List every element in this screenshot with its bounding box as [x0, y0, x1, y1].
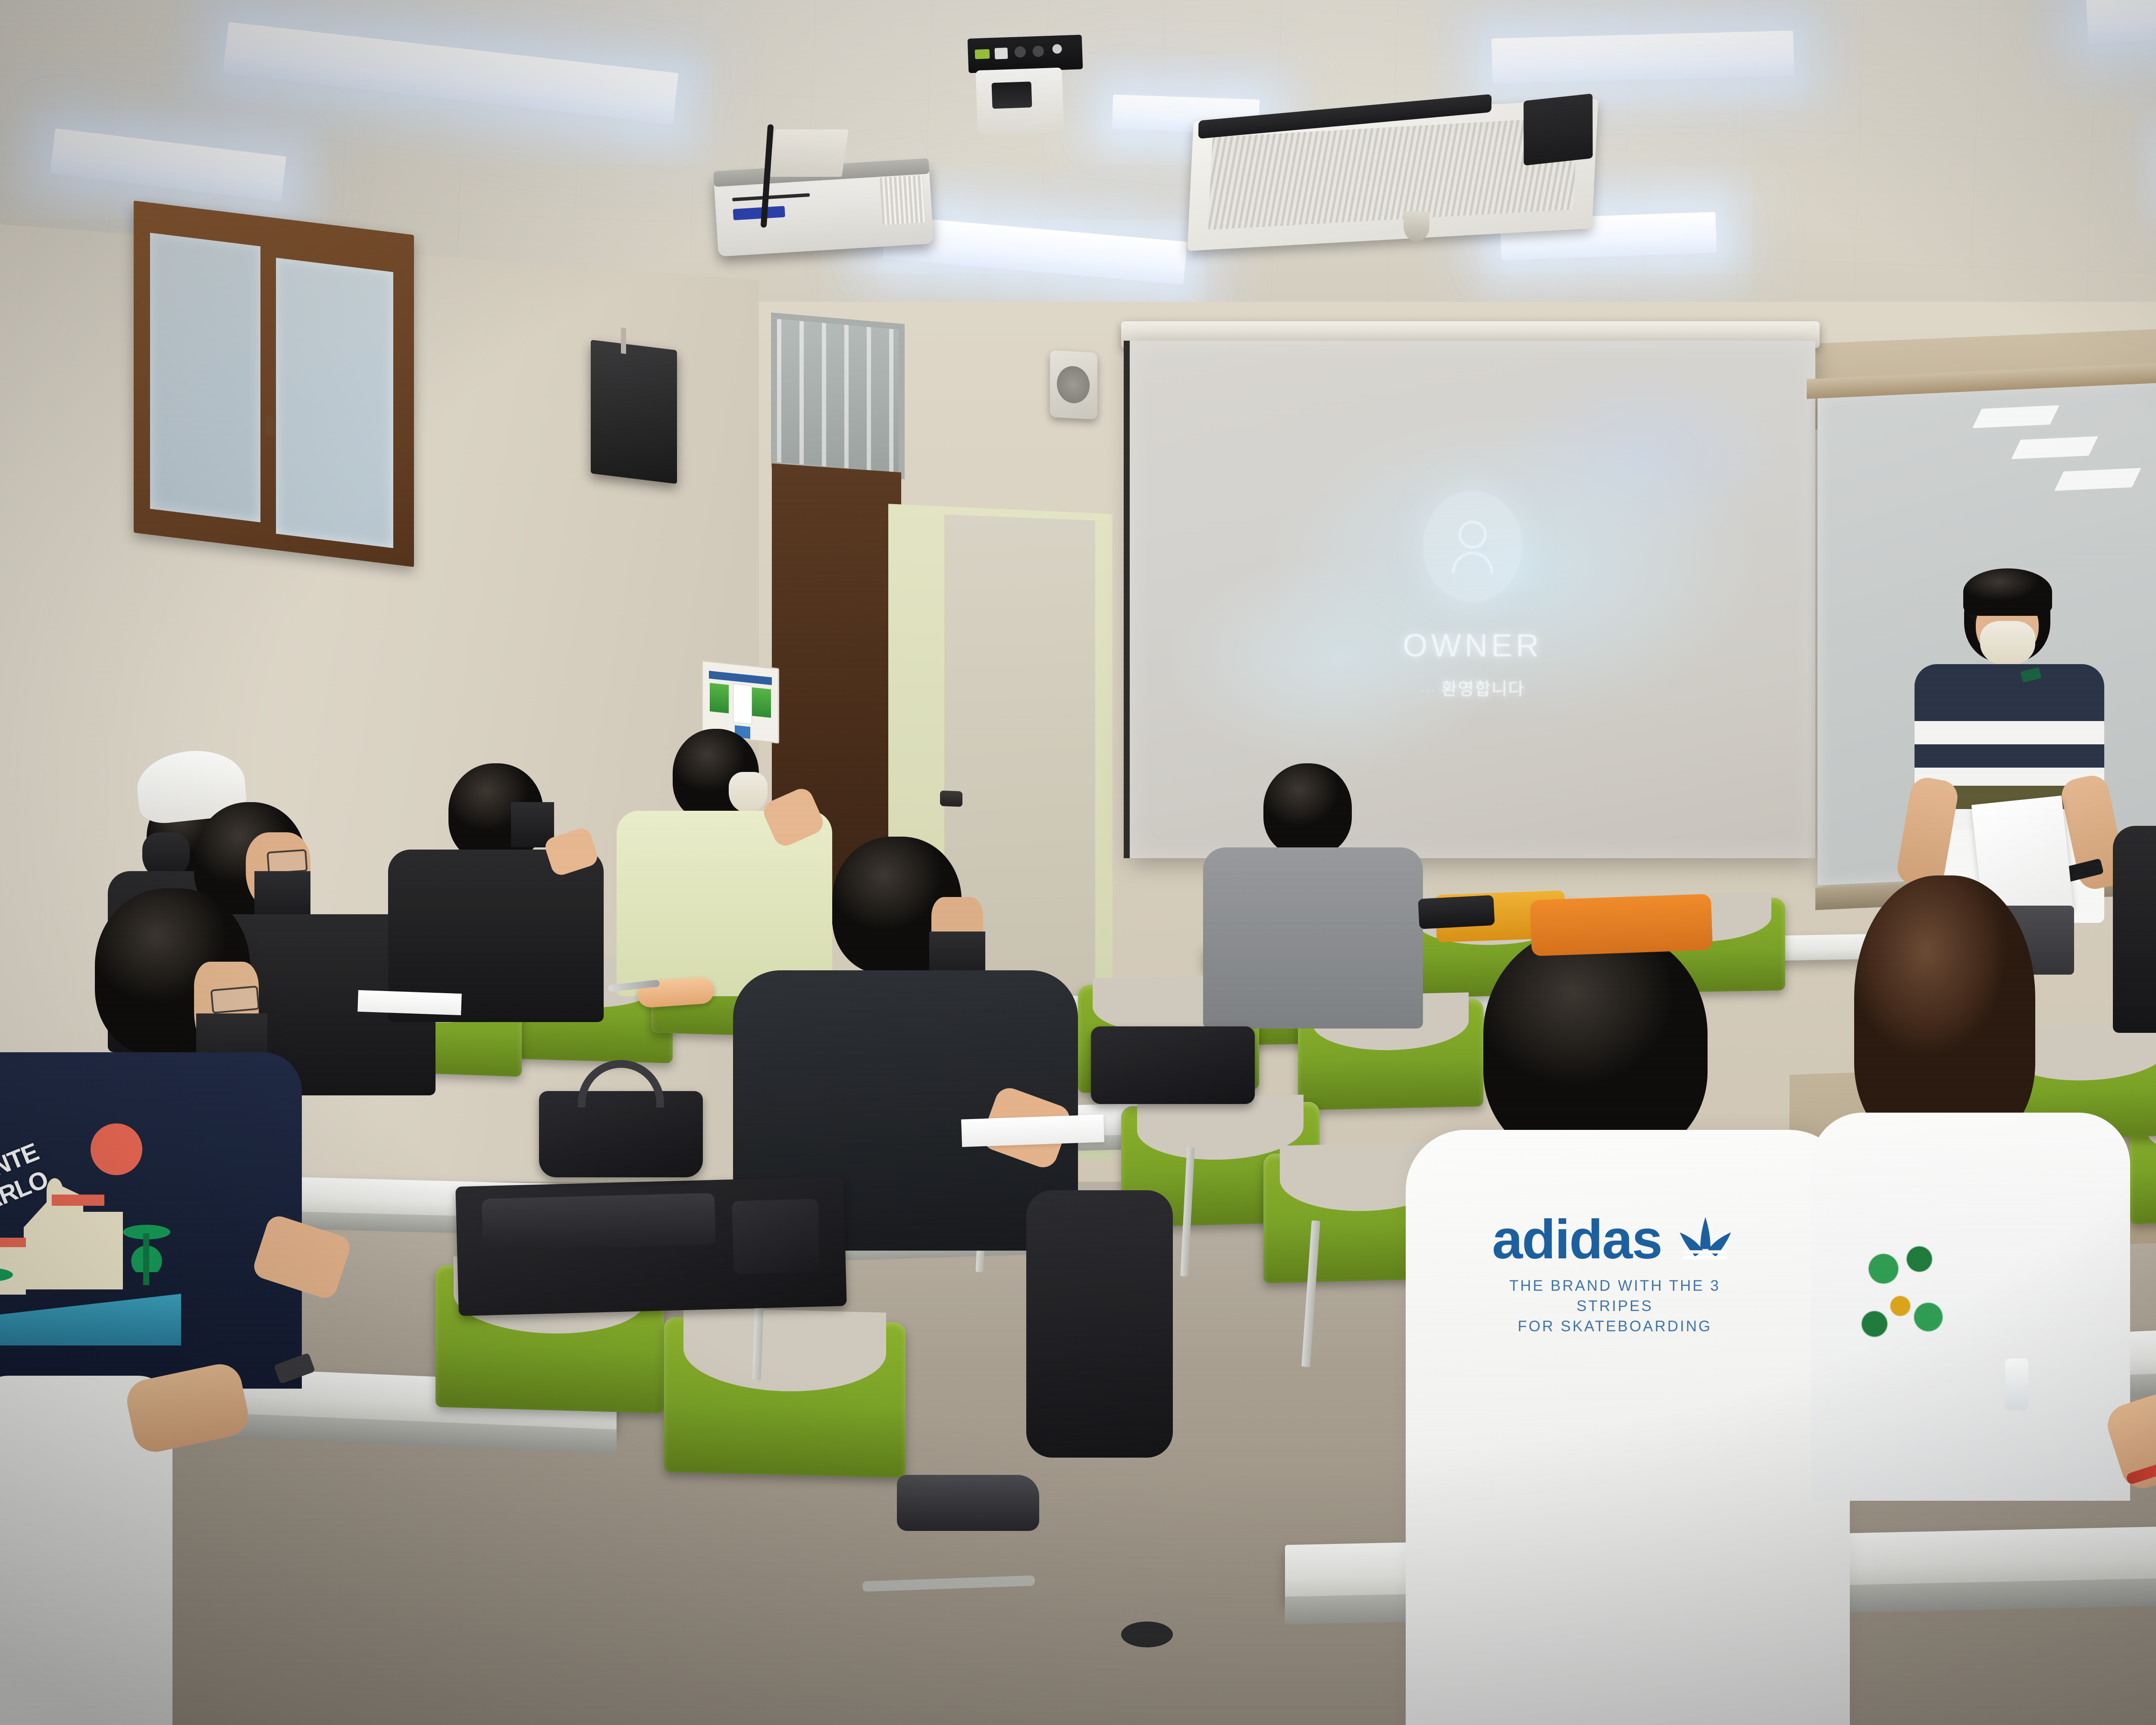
classroom-photo: OWNER ···환영합니다 대구대학교 UNIVERSITY	[0, 0, 2156, 1725]
ceiling-light	[1492, 31, 1795, 84]
face-mask	[729, 772, 768, 813]
orange-jacket[interactable]	[1530, 894, 1713, 957]
projector-mount	[768, 129, 848, 177]
wall-monitor[interactable]	[591, 340, 677, 484]
door-handle[interactable]	[940, 790, 962, 807]
ceiling-projector-rear	[968, 34, 1083, 73]
black-bag-small[interactable]	[1091, 1026, 1255, 1104]
student-head	[1263, 763, 1352, 856]
user-avatar-glyph	[1447, 518, 1498, 574]
window-latch[interactable]	[265, 415, 274, 436]
adidas-tagline-line2: FOR SKATEBOARDING	[1481, 1316, 1749, 1336]
student-legs	[1026, 1190, 1173, 1458]
eyeglasses	[266, 849, 307, 874]
user-avatar-icon[interactable]	[1423, 491, 1522, 602]
tee-roof-graphic	[52, 1195, 104, 1206]
student-body	[1811, 1113, 2130, 1501]
shoe	[897, 1475, 1039, 1531]
projection-screen[interactable]: OWNER ···환영합니다	[1130, 341, 1815, 858]
loading-spinner-icon: ···	[1420, 683, 1436, 697]
window-pane	[150, 233, 260, 522]
student-head	[1483, 927, 1708, 1160]
welcome-korean: 환영합니다	[1441, 680, 1525, 699]
login-screen-content: OWNER ···환영합니다	[1317, 491, 1628, 700]
window-frame	[134, 201, 414, 567]
blouse-tropical-print	[1850, 1220, 1962, 1358]
chair[interactable]	[664, 1317, 906, 1478]
black-strap	[1418, 895, 1495, 929]
student-body: adidas THE BRAND WITH THE 3 STRIPES FOR …	[1406, 1130, 1850, 1725]
transom-window	[771, 312, 905, 479]
student-body: MONTE CARLO	[0, 1052, 302, 1389]
login-username: OWNER	[1317, 627, 1628, 664]
student-body	[2113, 826, 2156, 1033]
student-body	[1203, 847, 1423, 1029]
presenter-collar	[1994, 666, 2024, 691]
adidas-wordmark: adidas	[1492, 1208, 1662, 1271]
paper-sheet[interactable]	[357, 990, 462, 1015]
student-hair	[1854, 875, 2035, 1143]
presenter-hair	[1963, 568, 2052, 616]
sprinkler-head	[1404, 211, 1429, 241]
monitor-cable	[621, 327, 626, 354]
tee-water-graphic	[0, 1294, 181, 1345]
wall-speaker-left	[1050, 350, 1097, 420]
black-backpack[interactable]	[455, 1176, 847, 1316]
chair-caster	[1121, 1621, 1173, 1647]
tee-palm-trunk	[143, 1233, 149, 1285]
ceiling-camera-body	[975, 68, 1064, 135]
eyeglasses	[210, 985, 260, 1013]
adidas-tagline-line1: THE BRAND WITH THE 3 STRIPES	[1481, 1276, 1749, 1317]
login-welcome-text: ···환영합니다	[1317, 675, 1628, 700]
ac-cassette-unit	[1187, 98, 1598, 251]
presenter-mask	[1980, 621, 2035, 666]
ceiling-light	[2086, 0, 2156, 44]
paper-sheet[interactable]	[961, 1114, 1104, 1147]
black-handbag[interactable]	[539, 1091, 703, 1177]
water-bottle[interactable]	[2005, 1358, 2028, 1410]
window-pane	[276, 258, 393, 548]
trefoil-icon	[1673, 1216, 1738, 1263]
